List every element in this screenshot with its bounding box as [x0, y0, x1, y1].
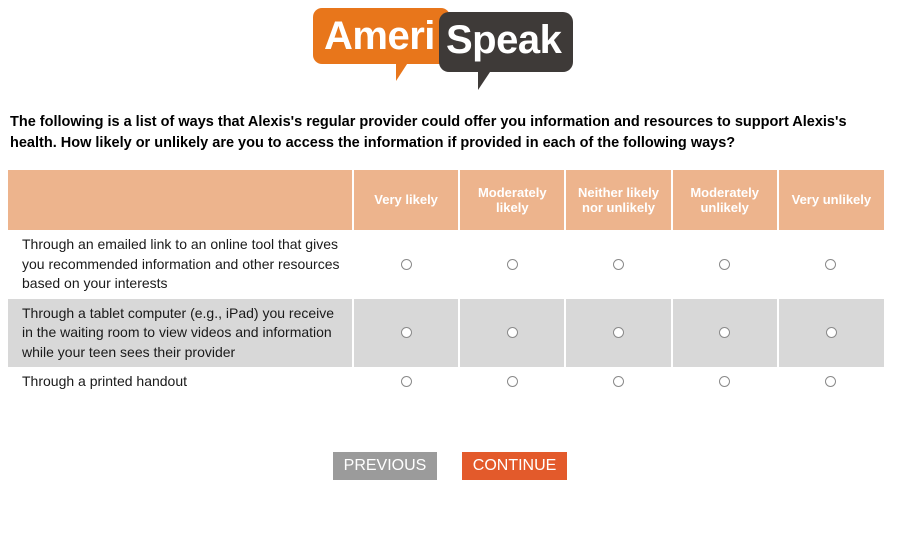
radio-cell-r2-c2[interactable] — [459, 299, 565, 368]
question-text: The following is a list of ways that Ale… — [10, 112, 882, 154]
radio-cell-r3-c2[interactable] — [459, 367, 565, 397]
radio-button-r3-c1[interactable] — [401, 376, 412, 387]
navigation-buttons: PREVIOUS CONTINUE — [0, 452, 900, 480]
radio-cell-r2-c1[interactable] — [353, 299, 459, 368]
logo-orange-bubble-tail — [396, 61, 409, 81]
previous-button[interactable]: PREVIOUS — [333, 452, 438, 480]
logo-text-speak: Speak — [446, 18, 561, 62]
grid-header-very-unlikely: Very unlikely — [778, 170, 884, 230]
radio-button-r1-c3[interactable] — [613, 259, 624, 270]
radio-button-r1-c1[interactable] — [401, 259, 412, 270]
radio-button-r3-c5[interactable] — [825, 376, 836, 387]
radio-cell-r2-c4[interactable] — [672, 299, 778, 368]
radio-cell-r3-c1[interactable] — [353, 367, 459, 397]
radio-button-r3-c2[interactable] — [507, 376, 518, 387]
table-row: Through a tablet computer (e.g., iPad) y… — [8, 299, 884, 368]
survey-page: Ameri Speak The following is a list of w… — [0, 0, 900, 555]
radio-cell-r2-c3[interactable] — [565, 299, 671, 368]
grid-header-label-col — [8, 170, 353, 230]
table-row: Through a printed handout — [8, 367, 884, 397]
logo-text-ameri: Ameri — [324, 14, 435, 58]
radio-cell-r3-c3[interactable] — [565, 367, 671, 397]
radio-button-r2-c3[interactable] — [613, 327, 624, 338]
radio-button-r3-c4[interactable] — [719, 376, 730, 387]
table-row: Through an emailed link to an online too… — [8, 230, 884, 299]
radio-cell-r1-c3[interactable] — [565, 230, 671, 299]
row-label-printed-handout: Through a printed handout — [8, 367, 353, 397]
radio-cell-r1-c4[interactable] — [672, 230, 778, 299]
grid-header-row: Very likely Moderately likely Neither li… — [8, 170, 884, 230]
radio-button-r2-c2[interactable] — [507, 327, 518, 338]
amerispeak-logo: Ameri Speak — [310, 4, 580, 90]
radio-button-r1-c5[interactable] — [825, 259, 836, 270]
row-label-emailed-link: Through an emailed link to an online too… — [8, 230, 353, 299]
radio-cell-r3-c4[interactable] — [672, 367, 778, 397]
radio-cell-r3-c5[interactable] — [778, 367, 884, 397]
radio-cell-r2-c5[interactable] — [778, 299, 884, 368]
logo-dark-bubble-tail — [478, 69, 492, 90]
grid-header-moderately-likely: Moderately likely — [459, 170, 565, 230]
row-label-tablet-computer: Through a tablet computer (e.g., iPad) y… — [8, 299, 353, 368]
grid-header-very-likely: Very likely — [353, 170, 459, 230]
radio-button-r2-c4[interactable] — [719, 327, 730, 338]
radio-button-r1-c2[interactable] — [507, 259, 518, 270]
radio-button-r3-c3[interactable] — [613, 376, 624, 387]
grid-header: Very likely Moderately likely Neither li… — [8, 170, 884, 230]
continue-button[interactable]: CONTINUE — [462, 452, 568, 480]
radio-cell-r1-c5[interactable] — [778, 230, 884, 299]
radio-button-r2-c5[interactable] — [826, 327, 837, 338]
radio-button-r1-c4[interactable] — [719, 259, 730, 270]
radio-cell-r1-c1[interactable] — [353, 230, 459, 299]
response-grid: Very likely Moderately likely Neither li… — [8, 170, 884, 397]
radio-button-r2-c1[interactable] — [401, 327, 412, 338]
grid-header-neither: Neither likely nor unlikely — [565, 170, 671, 230]
grid-body: Through an emailed link to an online too… — [8, 230, 884, 397]
radio-cell-r1-c2[interactable] — [459, 230, 565, 299]
grid-header-moderately-unlikely: Moderately unlikely — [672, 170, 778, 230]
